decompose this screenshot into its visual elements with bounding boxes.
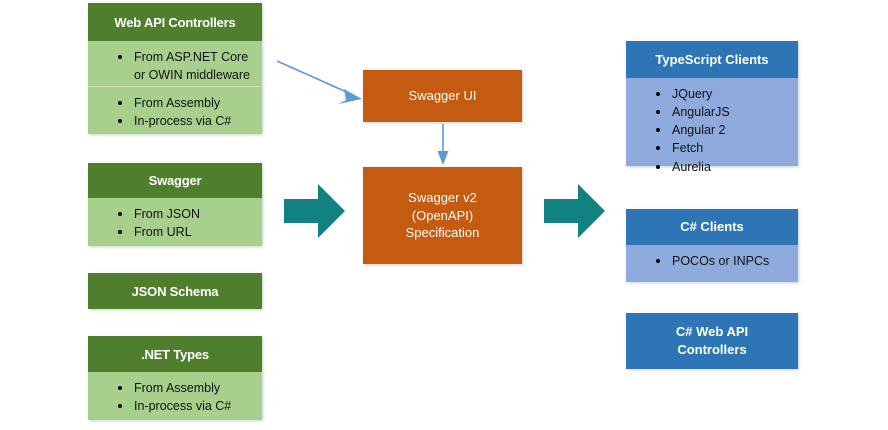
arrow-right-icon [544,180,606,242]
list-item: In-process via C# [118,112,262,130]
bullet-list: From Assembly In-process via C# [88,379,262,415]
box-swagger-header[interactable]: Swagger [88,163,262,198]
box-dotnet-types-section-1[interactable]: From Assembly In-process via C# [88,372,262,420]
arrow-right-icon [284,180,346,242]
box-swagger-ui[interactable]: Swagger UI [363,70,522,122]
diagram-canvas: Web API Controllers From ASP.NET Core or… [0,0,888,430]
box-dotnet-types-header[interactable]: .NET Types [88,336,262,372]
bullet-list: From ASP.NET Core or OWIN middleware [88,48,262,84]
block-arrow-center-to-right [544,180,606,242]
box-web-api-controllers-section-2[interactable]: From Assembly In-process via C# [88,86,262,134]
box-typescript-clients-body[interactable]: JQuery AngularJS Angular 2 Fetch Aurelia [626,78,798,166]
box-web-api-controllers-header[interactable]: Web API Controllers [88,3,262,41]
list-item: In-process via C# [118,397,262,415]
box-web-api-controllers-title: Web API Controllers [114,15,235,30]
bullet-list: From Assembly In-process via C# [88,94,262,130]
box-swagger-title: Swagger [149,173,202,188]
box-dotnet-types-title: .NET Types [141,347,209,362]
box-csharp-clients-title: C# Clients [680,218,744,236]
bullet-list: JQuery AngularJS Angular 2 Fetch Aurelia [626,85,798,176]
box-csharp-web-api-controllers-title: C# Web API Controllers [676,323,748,358]
box-json-schema-header[interactable]: JSON Schema [88,273,262,309]
box-typescript-clients-title: TypeScript Clients [655,51,768,69]
box-csharp-web-api-controllers[interactable]: C# Web API Controllers [626,313,798,369]
bullet-list: From JSON From URL [88,205,262,241]
box-csharp-clients-body[interactable]: POCOs or INPCs [626,245,798,282]
list-item: From URL [118,223,262,241]
list-item: AngularJS [656,103,798,121]
arrow-diagonal-icon [274,55,366,110]
box-swagger-ui-label: Swagger UI [409,87,477,105]
bullet-list: POCOs or INPCs [626,252,798,270]
box-web-api-controllers-section-1[interactable]: From ASP.NET Core or OWIN middleware [88,41,262,86]
box-swagger-spec[interactable]: Swagger v2 (OpenAPI) Specification [363,167,522,264]
thin-arrow-swagger-ui-to-spec [436,124,450,166]
box-swagger-spec-label: Swagger v2 (OpenAPI) Specification [406,189,480,242]
box-swagger-section-1[interactable]: From JSON From URL [88,198,262,246]
list-item: From Assembly [118,379,262,397]
list-item: Angular 2 [656,121,798,139]
thin-arrow-controllers-to-swagger-ui [274,55,366,110]
box-json-schema-title: JSON Schema [132,284,219,299]
list-item: Fetch [656,139,798,157]
list-item: JQuery [656,85,798,103]
block-arrow-left-to-center [284,180,346,242]
list-item: POCOs or INPCs [656,252,798,270]
list-item: From JSON [118,205,262,223]
box-typescript-clients-header[interactable]: TypeScript Clients [626,41,798,78]
list-item: From ASP.NET Core or OWIN middleware [118,48,262,84]
list-item: From Assembly [118,94,262,112]
list-item: Aurelia [656,158,798,176]
arrow-down-icon [436,124,450,166]
box-csharp-clients-header[interactable]: C# Clients [626,209,798,245]
